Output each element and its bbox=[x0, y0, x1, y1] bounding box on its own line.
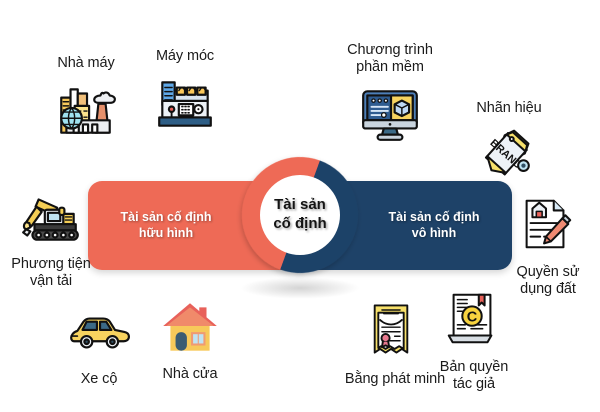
node-may-moc[interactable]: Máy móc bbox=[110, 48, 260, 136]
node-label-xe-co: Xe cộ bbox=[81, 371, 118, 388]
node-label-bang-phat-minh: Bằng phát minh bbox=[345, 371, 445, 388]
land-deed-icon bbox=[515, 193, 581, 259]
node-quyen-su-dung-dat[interactable]: Quyền sử dụng đất bbox=[473, 193, 600, 298]
donut-chart bbox=[232, 147, 368, 283]
machinery-icon bbox=[152, 70, 218, 136]
node-bang-phat-minh[interactable]: Bằng phát minh bbox=[320, 300, 470, 388]
node-nhan-hieu[interactable]: BRAND Nhãn hiệu bbox=[434, 100, 584, 188]
node-label-nha-cua: Nhà cửa bbox=[163, 366, 218, 383]
house-icon bbox=[157, 295, 223, 361]
node-label-nha-may: Nhà máy bbox=[57, 55, 114, 72]
node-label-phuong-tien-van-tai: Phương tiện vận tải bbox=[11, 256, 90, 290]
excavator-icon bbox=[18, 185, 84, 251]
software-monitor-icon bbox=[357, 81, 423, 147]
donut-hole bbox=[260, 175, 340, 255]
node-label-nhan-hieu: Nhãn hiệu bbox=[476, 100, 541, 117]
node-label-chuong-trinh-phan-mem: Chương trình phần mềm bbox=[347, 42, 433, 76]
infographic-canvas: Tài sản cố định hữu hình Tài sản cố định… bbox=[0, 0, 600, 412]
node-label-may-moc: Máy móc bbox=[156, 48, 214, 65]
brand-tag-icon: BRAND bbox=[476, 122, 542, 188]
patent-certificate-icon bbox=[362, 300, 428, 366]
node-phuong-tien-van-tai[interactable]: Phương tiện vận tải bbox=[0, 185, 126, 290]
center-donut: Tài sản cố định bbox=[232, 147, 368, 305]
node-nha-cua[interactable]: Nhà cửa bbox=[115, 295, 265, 383]
